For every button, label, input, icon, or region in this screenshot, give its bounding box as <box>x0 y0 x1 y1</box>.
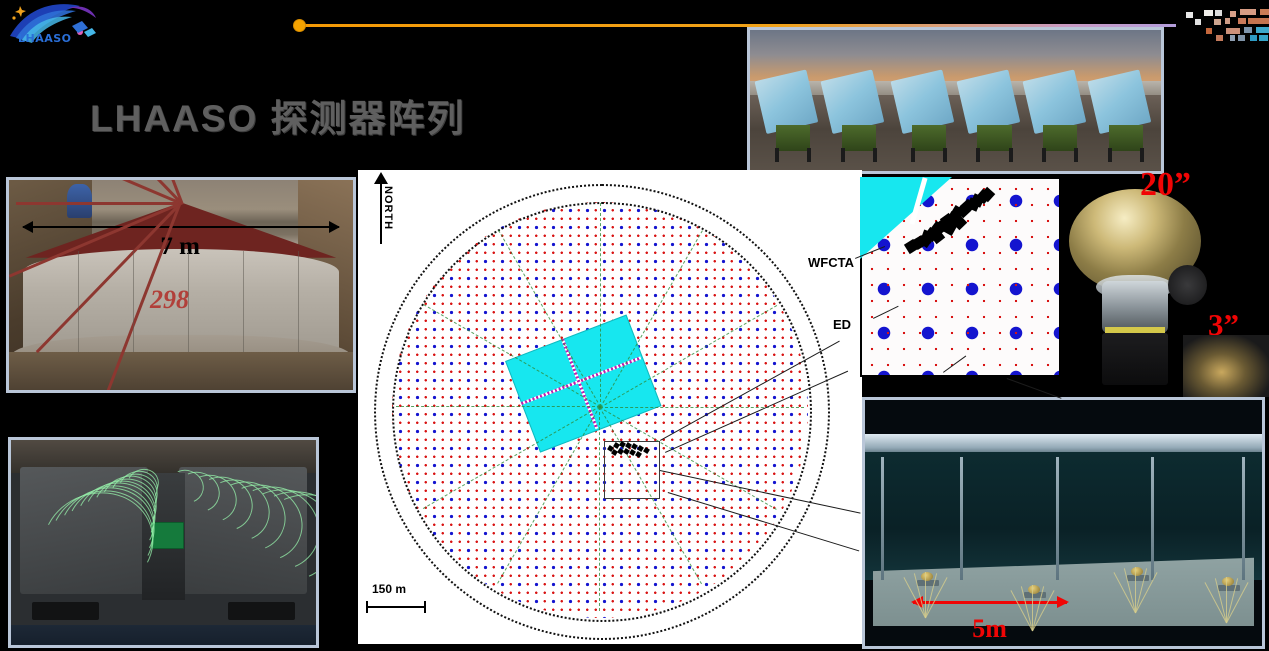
tank-wall-seam <box>243 251 244 352</box>
tank-wall-seam <box>133 251 134 352</box>
tank-wall-seam <box>298 251 299 352</box>
scale-label: 150 m <box>372 582 406 596</box>
cherenkov-telescope <box>1034 64 1087 151</box>
mosaic-cell <box>1248 18 1269 24</box>
3-inch-photomultiplier-tube-photo <box>1183 335 1269 397</box>
north-label: NORTH <box>382 186 394 230</box>
scale-bar-icon <box>366 606 426 608</box>
photomultiplier-tube <box>1028 585 1040 594</box>
mosaic-cell <box>1206 28 1212 34</box>
tank-wall-seam <box>188 251 189 352</box>
mosaic-cell <box>1230 11 1236 17</box>
pool-partition-curtain <box>1242 457 1245 580</box>
cherenkov-telescope <box>1099 64 1152 151</box>
decorative-mosaic <box>1168 4 1269 44</box>
tank-wall-seam <box>78 251 79 352</box>
cherenkov-telescope <box>902 64 955 151</box>
mosaic-cell <box>1240 9 1256 15</box>
label-wfcta: WFCTA <box>808 255 854 270</box>
mosaic-cell <box>1230 35 1235 41</box>
tank-marking: 298 <box>150 285 189 315</box>
mosaic-cell <box>1244 27 1252 33</box>
mosaic-cell <box>1226 28 1240 34</box>
pmt-20-size-label: 20” <box>1140 166 1191 204</box>
mosaic-cell <box>1225 18 1230 24</box>
cherenkov-telescope <box>968 64 1021 151</box>
pool-partition-curtain <box>1056 457 1059 580</box>
mosaic-cell <box>1195 19 1201 25</box>
mosaic-cell <box>1204 10 1213 16</box>
pool-dimension-arrow-icon <box>913 601 1068 604</box>
leader-line-to-pmt-photo <box>1007 378 1062 399</box>
water-cherenkov-detector-pool-render: 5m <box>862 397 1265 649</box>
label-md: MD <box>903 373 923 388</box>
pmt-cable <box>1032 585 1033 631</box>
pmt-cable <box>925 572 926 618</box>
mosaic-cell <box>1259 35 1268 41</box>
electromagnetic-detector-module-photo <box>8 437 319 648</box>
muon-detector-tank-photo: 298 7 m <box>6 177 356 393</box>
radial-guide-line <box>600 407 804 408</box>
header-accent-dot <box>294 20 305 31</box>
mosaic-cell <box>1238 35 1245 41</box>
tank-roof-beam <box>16 202 181 205</box>
mosaic-cell <box>1238 18 1246 24</box>
radial-guide-line <box>599 407 600 611</box>
pool-partition-curtain <box>1151 457 1154 580</box>
pool-partition-curtain <box>881 457 884 580</box>
photomultiplier-tube <box>921 572 933 581</box>
pool-dimension-label: 5m <box>972 614 1007 644</box>
pool-partition-curtain <box>960 457 963 580</box>
lhaaso-logo: LHAASO <box>6 2 98 48</box>
svg-text:LHAASO: LHAASO <box>18 32 72 45</box>
radial-guide-line <box>600 203 601 407</box>
mosaic-cell <box>1250 35 1257 41</box>
detector-layout-inset <box>860 177 1061 377</box>
mosaic-cell <box>1216 35 1223 41</box>
mosaic-cell <box>1260 9 1269 15</box>
cherenkov-telescope <box>832 64 885 151</box>
radial-guide-line <box>396 406 600 407</box>
mosaic-cell <box>1186 12 1193 18</box>
dimension-arrow-icon <box>23 226 339 228</box>
detector-array-map: NORTH 150 m <box>358 170 862 644</box>
wide-field-cherenkov-telescope-array-photo <box>747 27 1164 174</box>
mosaic-cell <box>1256 27 1269 33</box>
mosaic-cell <box>1215 10 1222 16</box>
mosaic-cell <box>1214 19 1221 25</box>
cherenkov-telescope <box>766 64 819 151</box>
label-ed: ED <box>833 317 851 332</box>
page-title: LHAASO 探测器阵列 <box>90 88 466 142</box>
